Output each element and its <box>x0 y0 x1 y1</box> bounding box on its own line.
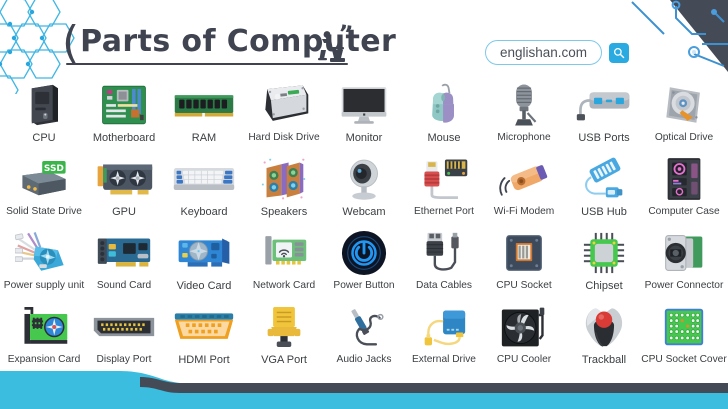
part-item[interactable]: Hard Disk Drive <box>244 80 324 154</box>
chipset-icon <box>566 228 642 278</box>
cpu-socket-icon <box>486 228 562 278</box>
part-item[interactable]: Webcam <box>324 154 404 228</box>
title-underline <box>66 63 348 65</box>
monitor-icon <box>326 80 402 130</box>
part-label: Wi-Fi Modem <box>494 206 555 218</box>
sound-card-icon <box>86 228 162 278</box>
usb-ports-icon <box>566 80 642 130</box>
part-label: USB Ports <box>578 132 629 144</box>
part-item[interactable]: SSD Solid State Drive <box>4 154 84 228</box>
data-cables-icon <box>406 228 482 278</box>
part-item[interactable]: Computer Case <box>644 154 724 228</box>
part-item[interactable]: Power supply unit <box>4 228 84 302</box>
part-label: Webcam <box>342 206 385 218</box>
part-item[interactable]: Power Connector <box>644 228 724 302</box>
infographic-page: ( Parts of Computer ” englishan.com <box>0 0 728 409</box>
site-name-input[interactable]: englishan.com <box>485 40 602 65</box>
part-item[interactable]: Motherboard <box>84 80 164 154</box>
part-label: Power Connector <box>645 280 724 292</box>
part-label: Chipset <box>585 280 622 292</box>
part-item[interactable]: GPU <box>84 154 164 228</box>
part-label: Solid State Drive <box>6 206 82 218</box>
mouse-icon <box>406 80 482 130</box>
part-item[interactable]: Mouse <box>404 80 484 154</box>
cpu-tower-icon <box>6 80 82 130</box>
part-label: Data Cables <box>416 280 472 292</box>
part-item[interactable]: RAM <box>164 80 244 154</box>
part-item[interactable]: Keyboard <box>164 154 244 228</box>
part-label: Monitor <box>346 132 383 144</box>
part-item[interactable]: Microphone <box>484 80 564 154</box>
svg-text:SSD: SSD <box>44 164 64 174</box>
optical-drive-icon <box>646 80 722 130</box>
parts-grid: CPU <box>4 80 724 376</box>
search-icon[interactable] <box>609 43 629 63</box>
keyboard-icon <box>166 154 242 204</box>
hard-disk-drive-icon <box>246 80 322 130</box>
part-label: Keyboard <box>180 206 227 218</box>
part-item[interactable]: Chipset <box>564 228 644 302</box>
part-item[interactable]: Network Card <box>244 228 324 302</box>
usb-hub-icon <box>566 154 642 204</box>
brand-search-bar: englishan.com <box>485 40 629 65</box>
part-label: GPU <box>112 206 136 218</box>
vga-port-icon <box>246 302 322 352</box>
part-label: RAM <box>192 132 216 144</box>
power-button-icon <box>326 228 402 278</box>
part-item[interactable]: Power Button <box>324 228 404 302</box>
part-label: Network Card <box>253 280 315 292</box>
part-item[interactable]: Data Cables <box>404 228 484 302</box>
part-item[interactable]: Sound Card <box>84 228 164 302</box>
microphone-icon <box>486 80 562 130</box>
ram-stick-icon <box>166 80 242 130</box>
part-item[interactable]: USB Ports <box>564 80 644 154</box>
part-label: Hard Disk Drive <box>248 132 319 144</box>
part-label: Microphone <box>497 132 550 144</box>
part-label: Power Button <box>333 280 394 292</box>
motherboard-icon <box>86 80 162 130</box>
power-supply-unit-icon <box>6 228 82 278</box>
part-item[interactable]: Wi-Fi Modem <box>484 154 564 228</box>
part-label: Video Card <box>177 280 232 292</box>
wifi-modem-icon <box>486 154 562 204</box>
network-card-icon <box>246 228 322 278</box>
hdmi-port-icon <box>166 302 242 352</box>
part-label: USB Hub <box>581 206 627 218</box>
ethernet-port-icon <box>406 154 482 204</box>
title-bracket: ( <box>62 26 79 60</box>
part-item[interactable]: Monitor <box>324 80 404 154</box>
computer-case-icon <box>646 154 722 204</box>
part-item[interactable]: CPU Socket <box>484 228 564 302</box>
part-item[interactable]: Ethernet Port <box>404 154 484 228</box>
power-connector-icon <box>646 228 722 278</box>
part-label: CPU Socket <box>496 280 551 292</box>
gpu-icon <box>86 154 162 204</box>
part-item[interactable]: CPU <box>4 80 84 154</box>
part-label: Mouse <box>427 132 460 144</box>
external-drive-icon <box>406 302 482 352</box>
part-label: Motherboard <box>93 132 155 144</box>
webcam-icon <box>326 154 402 204</box>
part-label: Optical Drive <box>655 132 713 144</box>
speakers-icon <box>246 154 322 204</box>
ssd-icon: SSD <box>6 154 82 204</box>
header: ( Parts of Computer ” englishan.com <box>0 0 728 74</box>
part-label: Computer Case <box>648 206 719 218</box>
bottom-wave-decoration <box>0 363 728 409</box>
audio-jacks-icon <box>326 302 402 352</box>
part-item[interactable]: USB Hub <box>564 154 644 228</box>
part-item[interactable]: Video Card <box>164 228 244 302</box>
part-label: Sound Card <box>97 280 151 292</box>
part-label: Power supply unit <box>4 280 84 292</box>
expansion-card-icon <box>6 302 82 352</box>
part-label: CPU <box>32 132 55 144</box>
part-item[interactable]: Optical Drive <box>644 80 724 154</box>
cpu-socket-cover-icon <box>646 302 722 352</box>
part-label: Ethernet Port <box>414 206 474 218</box>
cpu-cooler-icon <box>486 302 562 352</box>
display-port-icon <box>86 302 162 352</box>
part-item[interactable]: Speakers <box>244 154 324 228</box>
trackball-icon <box>566 302 642 352</box>
video-card-icon <box>166 228 242 278</box>
part-label: Speakers <box>261 206 307 218</box>
